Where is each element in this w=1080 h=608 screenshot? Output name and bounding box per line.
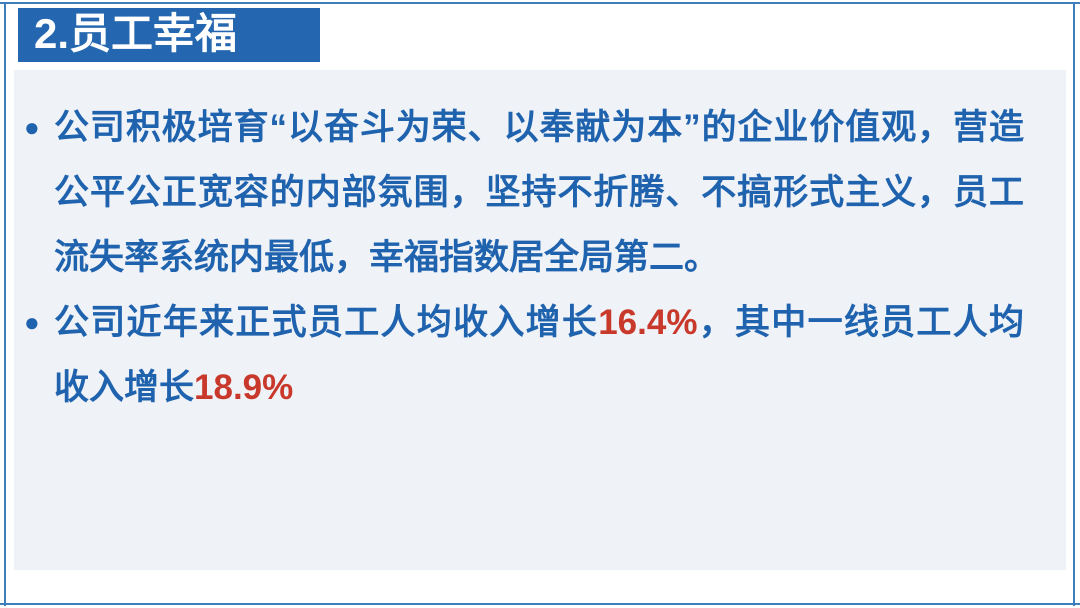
frame-rule-bottom <box>0 603 1080 605</box>
frame-rule-left <box>4 2 6 606</box>
bullet-text: 公司积极培育“以奋斗为荣、以奉献为本”的企业价值观，营造公平公正宽容的内部氛围，… <box>54 95 1024 290</box>
bullet-text-run: 公司近年来正式员工人均收入增长 <box>54 303 598 342</box>
highlight-percentage: 16.4% <box>598 303 697 342</box>
bullet-item: ● 公司近年来正式员工人均收入增长16.4%，其中一线员工人均收入增长18.9% <box>24 290 1024 420</box>
body-copy: ● 公司积极培育“以奋斗为荣、以奉献为本”的企业价值观，营造公平公正宽容的内部氛… <box>24 95 1024 420</box>
frame-rule-right <box>1073 2 1075 606</box>
section-title-text: 2.员工幸福 <box>34 13 237 55</box>
bullet-marker-icon: ● <box>24 290 54 420</box>
section-title-banner: 2.员工幸福 <box>18 8 320 62</box>
highlight-percentage: 18.9% <box>194 368 293 407</box>
frame-rule-top <box>0 2 1080 4</box>
bullet-text-run: 公司积极培育“以奋斗为荣、以奉献为本”的企业价值观，营造公平公正宽容的内部氛围，… <box>54 108 1024 277</box>
bullet-item: ● 公司积极培育“以奋斗为荣、以奉献为本”的企业价值观，营造公平公正宽容的内部氛… <box>24 95 1024 290</box>
slide-canvas: 2.员工幸福 ● 公司积极培育“以奋斗为荣、以奉献为本”的企业价值观，营造公平公… <box>0 0 1080 608</box>
bullet-marker-icon: ● <box>24 95 54 290</box>
bullet-text: 公司近年来正式员工人均收入增长16.4%，其中一线员工人均收入增长18.9% <box>54 290 1024 420</box>
